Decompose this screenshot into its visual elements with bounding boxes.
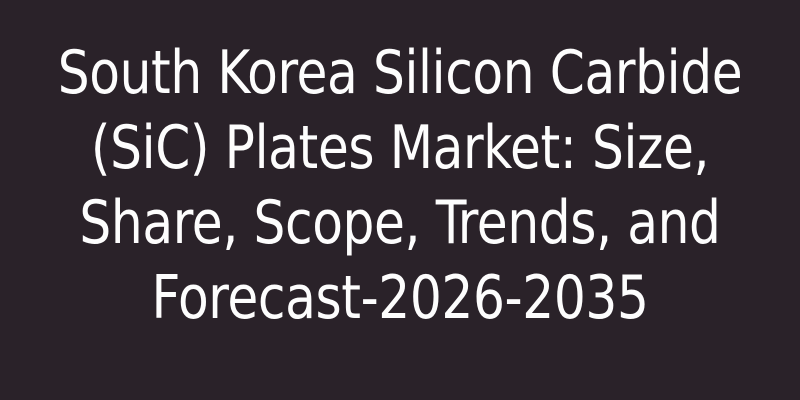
title-line-3: Share, Scope, Trends, and xyxy=(28,186,772,261)
title-line-1: South Korea Silicon Carbide xyxy=(28,36,772,111)
title-banner: South Korea Silicon Carbide (SiC) Plates… xyxy=(0,0,800,400)
title-line-4: Forecast-2026-2035 xyxy=(28,261,772,336)
title-line-2: (SiC) Plates Market: Size, xyxy=(28,111,772,186)
page-title: South Korea Silicon Carbide (SiC) Plates… xyxy=(0,0,800,336)
